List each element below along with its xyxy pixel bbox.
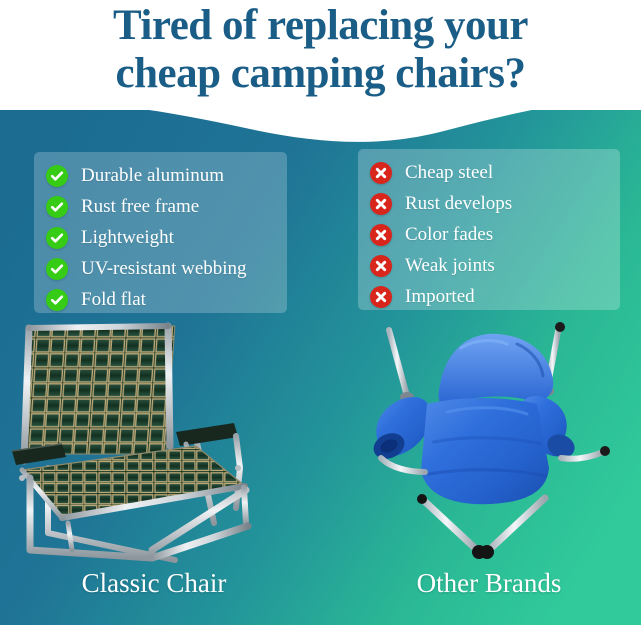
- check-circle-icon: [46, 289, 68, 311]
- list-item: Weak joints: [358, 252, 620, 280]
- page-title: Tired of replacing your cheap camping ch…: [0, 2, 641, 98]
- cross-circle-icon: [370, 286, 392, 308]
- product-caption: Other Brands: [329, 566, 641, 600]
- cross-circle-icon: [370, 255, 392, 277]
- list-item: Rust free frame: [34, 193, 287, 221]
- check-circle-icon: [46, 227, 68, 249]
- list-item-label: Color fades: [405, 224, 493, 246]
- cons-panel: Cheap steel Rust develops: [358, 149, 620, 310]
- list-item-label: Rust free frame: [81, 196, 199, 218]
- pros-list: Durable aluminum Rust free frame: [34, 152, 287, 314]
- cons-list: Cheap steel Rust develops: [358, 149, 620, 311]
- check-circle-icon: [46, 196, 68, 218]
- cross-circle-icon: [370, 224, 392, 246]
- list-item-label: Rust develops: [405, 193, 512, 215]
- cross-circle-icon: [370, 162, 392, 184]
- pros-panel: Durable aluminum Rust free frame: [34, 152, 287, 313]
- check-circle-icon: [46, 165, 68, 187]
- list-item: Lightweight: [34, 224, 287, 252]
- list-item: Imported: [358, 283, 620, 311]
- product-caption: Classic Chair: [0, 566, 314, 600]
- list-item: Color fades: [358, 221, 620, 249]
- list-item-label: Durable aluminum: [81, 165, 224, 187]
- check-circle-icon: [46, 258, 68, 280]
- list-item-label: Cheap steel: [405, 162, 493, 184]
- list-item-label: UV-resistant webbing: [81, 258, 247, 280]
- list-item: Durable aluminum: [34, 162, 287, 190]
- list-item-label: Imported: [405, 286, 475, 308]
- product-other-brands: Other Brands: [321, 318, 641, 625]
- list-item-label: Fold flat: [81, 289, 146, 311]
- list-item-label: Weak joints: [405, 255, 495, 277]
- list-item: UV-resistant webbing: [34, 255, 287, 283]
- header-band: Tired of replacing your cheap camping ch…: [0, 0, 641, 110]
- list-item-label: Lightweight: [81, 227, 174, 249]
- product-comparison: Classic Chair: [0, 318, 641, 625]
- classic-chair-image: [0, 318, 320, 563]
- list-item: Fold flat: [34, 286, 287, 314]
- cross-circle-icon: [370, 193, 392, 215]
- other-brands-chair-image: [321, 318, 641, 563]
- product-classic-chair: Classic Chair: [0, 318, 320, 625]
- comparison-infographic: Tired of replacing your cheap camping ch…: [0, 0, 641, 625]
- list-item: Rust develops: [358, 190, 620, 218]
- list-item: Cheap steel: [358, 159, 620, 187]
